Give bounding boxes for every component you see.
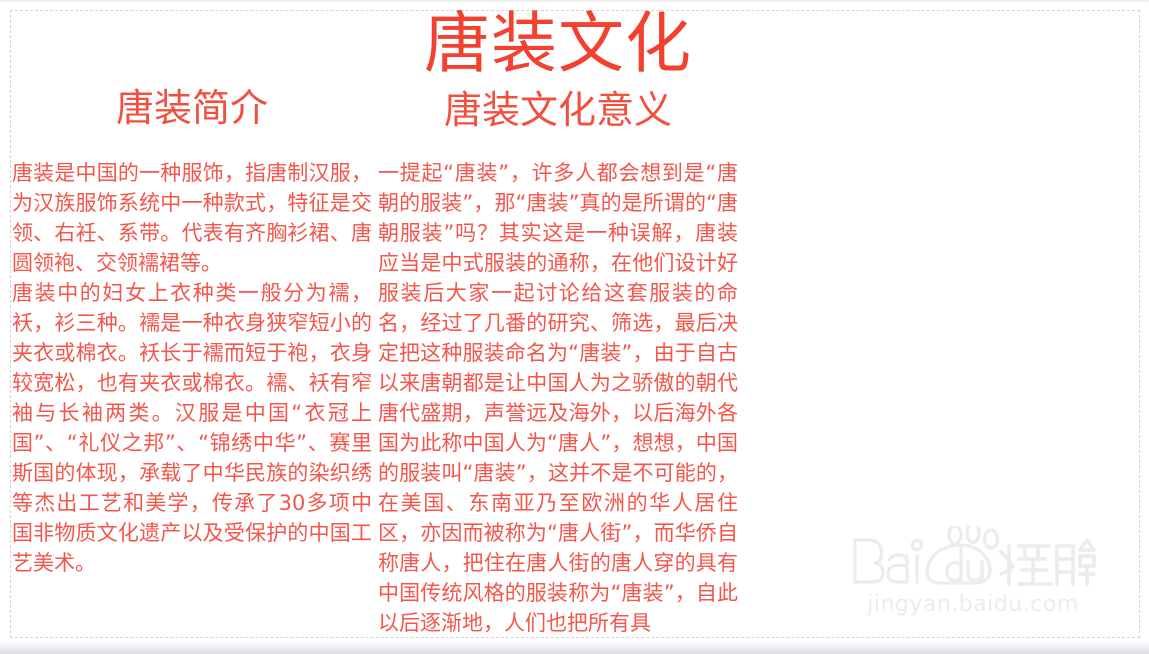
article-content: 唐装文化 唐装简介 唐装是中国的一种服饰，指唐制汉服，为汉族服饰系统中一种款式，… [0,0,1149,654]
body-text-intro: 唐装是中国的一种服饰，指唐制汉服，为汉族服饰系统中一种款式，特征是交领、右衽、系… [12,158,372,578]
section-title-meaning: 唐装文化意义 [378,88,738,132]
section-title-intro: 唐装简介 [12,86,372,130]
body-text-meaning: 一提起“唐装”，许多人都会想到是“唐朝的服装”，那“唐装”真的是所谓的“唐朝服装… [378,158,738,638]
page-title: 唐装文化 [378,6,738,82]
paragraph: 唐装是中国的一种服饰，指唐制汉服，为汉族服饰系统中一种款式，特征是交领、右衽、系… [12,158,372,278]
bottom-gradient-strip [0,640,1149,654]
article-page: 唐装文化 唐装简介 唐装是中国的一种服饰，指唐制汉服，为汉族服饰系统中一种款式，… [0,0,1149,654]
paragraph: 唐装中的妇女上衣种类一般分为襦，袄，衫三种。襦是一种衣身狭窄短小的夹衣或棉衣。袄… [12,278,372,578]
paragraph: 一提起“唐装”，许多人都会想到是“唐朝的服装”，那“唐装”真的是所谓的“唐朝服装… [378,158,738,638]
